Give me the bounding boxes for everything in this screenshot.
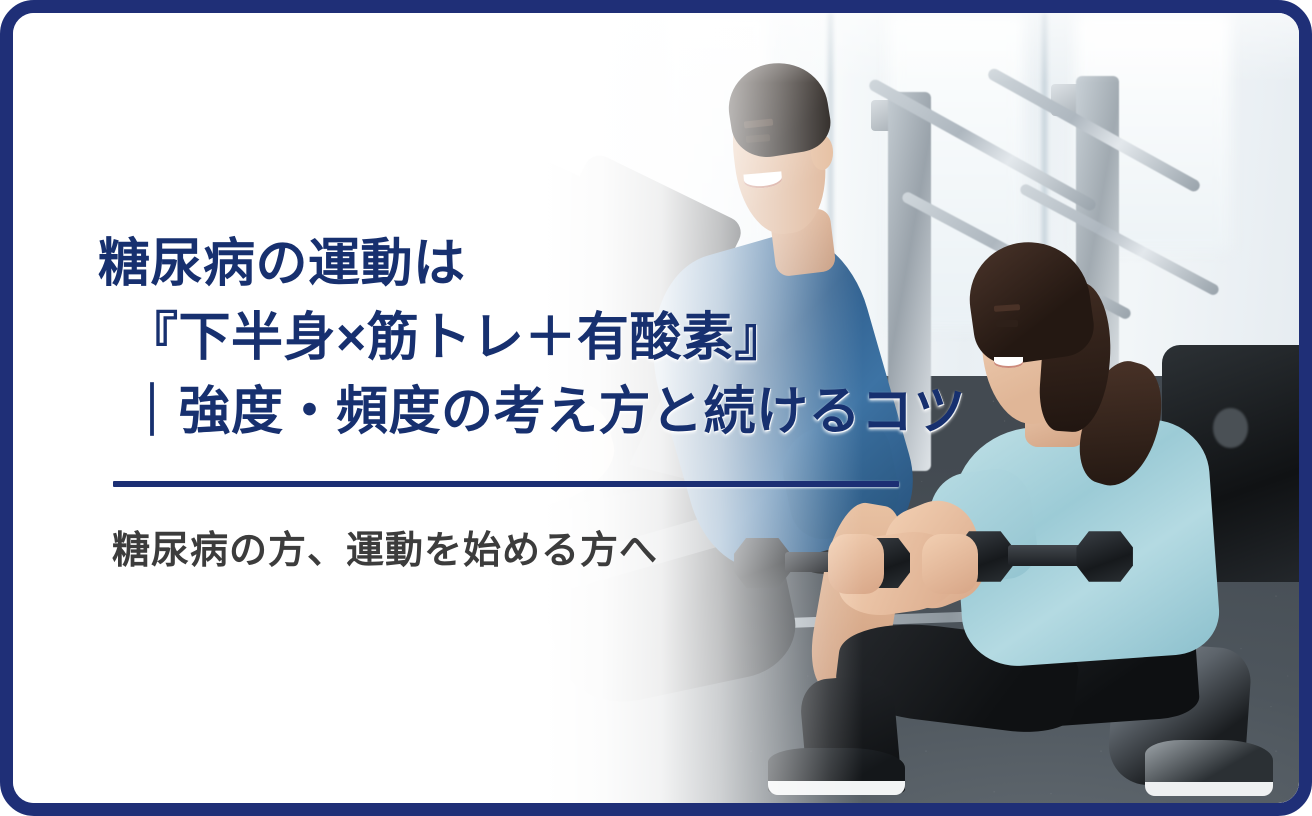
title-line-2: 『下半身×筋トレ＋有酸素』 bbox=[98, 301, 958, 375]
eyecatch-card: 糖尿病の運動は 『下半身×筋トレ＋有酸素』 ｜強度・頻度の考え方と続けるコツ 糖… bbox=[0, 0, 1312, 816]
dumbbell-bar-2 bbox=[1008, 545, 1085, 566]
text-block: 糖尿病の運動は 『下半身×筋トレ＋有酸素』 ｜強度・頻度の考え方と続けるコツ 糖… bbox=[13, 13, 963, 803]
title-line-3: ｜強度・頻度の考え方と続けるコツ bbox=[98, 375, 958, 449]
title-line-1: 糖尿病の運動は bbox=[98, 227, 958, 301]
weight-stack-hole bbox=[1213, 408, 1247, 448]
title-divider-rule bbox=[113, 481, 899, 487]
dumbbell-right-head-2 bbox=[1076, 531, 1132, 582]
page-title: 糖尿病の運動は 『下半身×筋トレ＋有酸素』 ｜強度・頻度の考え方と続けるコツ bbox=[98, 227, 958, 449]
window-mullion-2 bbox=[1042, 13, 1047, 274]
woman-smiling-mouth bbox=[994, 357, 1023, 367]
woman-eye bbox=[996, 320, 1018, 327]
card-canvas: 糖尿病の運動は 『下半身×筋トレ＋有酸素』 ｜強度・頻度の考え方と続けるコツ 糖… bbox=[13, 13, 1299, 803]
page-subtitle: 糖尿病の方、運動を始める方へ bbox=[112, 525, 658, 577]
woman-back-shoe-sole bbox=[1145, 782, 1273, 795]
